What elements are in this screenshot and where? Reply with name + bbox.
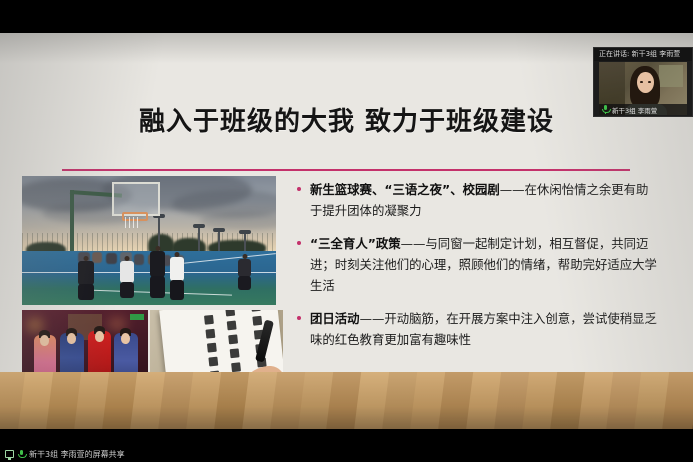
basketball-court-photo: [22, 176, 276, 305]
slide-bullet-list: 新生篮球赛、“三语之夜”、校园剧——在休闲怡情之余更有助于提升团体的凝聚力 “三…: [296, 179, 658, 362]
bullet-lead: 团日活动: [310, 311, 360, 326]
screen-share-status-bar: 新干3组 李雨萱的屏幕共享: [0, 446, 693, 462]
player-figure: [170, 252, 184, 300]
slide-title: 融入于班级的大我 致力于班级建设: [0, 101, 693, 138]
calligraphy-photo: [150, 310, 283, 372]
bullet-dot-icon: [297, 187, 301, 191]
performer-face: [121, 333, 130, 344]
performer-face: [67, 333, 76, 344]
stage-light: [28, 320, 42, 330]
player-figure: [150, 246, 165, 298]
bullet-lead: “三全育人”政策: [310, 236, 401, 251]
conference-app: 融入于班级的大我 致力于班级建设: [0, 0, 693, 462]
player-figure: [238, 254, 251, 290]
thumbnail-name-bar: 新干3组 李雨萱: [599, 104, 687, 115]
exit-sign: [130, 314, 144, 320]
performer-face: [95, 331, 104, 342]
avatar-face: [637, 72, 654, 93]
screen-share-icon: [5, 450, 14, 458]
speaking-label: 正在讲话: 新干3组 李雨萱: [594, 48, 692, 61]
calligraphy-column: [225, 310, 241, 372]
microphone-icon: [18, 450, 25, 459]
window-shape: [659, 65, 683, 87]
title-divider-rule: [62, 169, 630, 171]
hoop-pole: [70, 190, 74, 252]
calligraphy-column: [204, 315, 222, 372]
bullet-dot-icon: [297, 316, 301, 320]
bullet-lead: 新生篮球赛、“三语之夜”、校园剧: [310, 182, 500, 197]
status-text: 新干3组 李雨萱的屏幕共享: [29, 449, 125, 460]
performer-face: [40, 335, 49, 346]
crowd-figure: [134, 254, 144, 265]
player-figure: [120, 256, 134, 298]
list-item: 团日活动——开动脑筋，在开展方案中注入创意，尝试使稍显乏味的红色教育更加富有趣味…: [296, 308, 658, 350]
crowd-figure: [106, 253, 117, 264]
hoop-net: [125, 217, 141, 228]
wooden-floor: [0, 372, 693, 429]
bullet-rest: ——开动脑筋，在开展方案中注入创意，尝试使稍显乏味的红色教育更加富有趣味性: [310, 311, 657, 347]
top-letterbox-band: [0, 0, 693, 33]
microphone-icon: [602, 105, 609, 114]
bullet-dot-icon: [297, 241, 301, 245]
list-item: “三全育人”政策——与同窗一起制定计划，相互督促，共同迈进；时刻关注他们的心理，…: [296, 233, 658, 296]
speaker-thumbnail[interactable]: 正在讲话: 新干3组 李雨萱 新干3组 李雨萱: [593, 47, 693, 117]
participant-name: 新干3组 李雨萱: [612, 105, 657, 115]
backboard: [112, 182, 160, 216]
list-item: 新生篮球赛、“三语之夜”、校园剧——在休闲怡情之余更有助于提升团体的凝聚力: [296, 179, 658, 221]
shared-screen-stage[interactable]: 融入于班级的大我 致力于班级建设: [0, 33, 693, 372]
player-figure: [78, 256, 94, 300]
stage-performance-photo: [22, 310, 148, 372]
